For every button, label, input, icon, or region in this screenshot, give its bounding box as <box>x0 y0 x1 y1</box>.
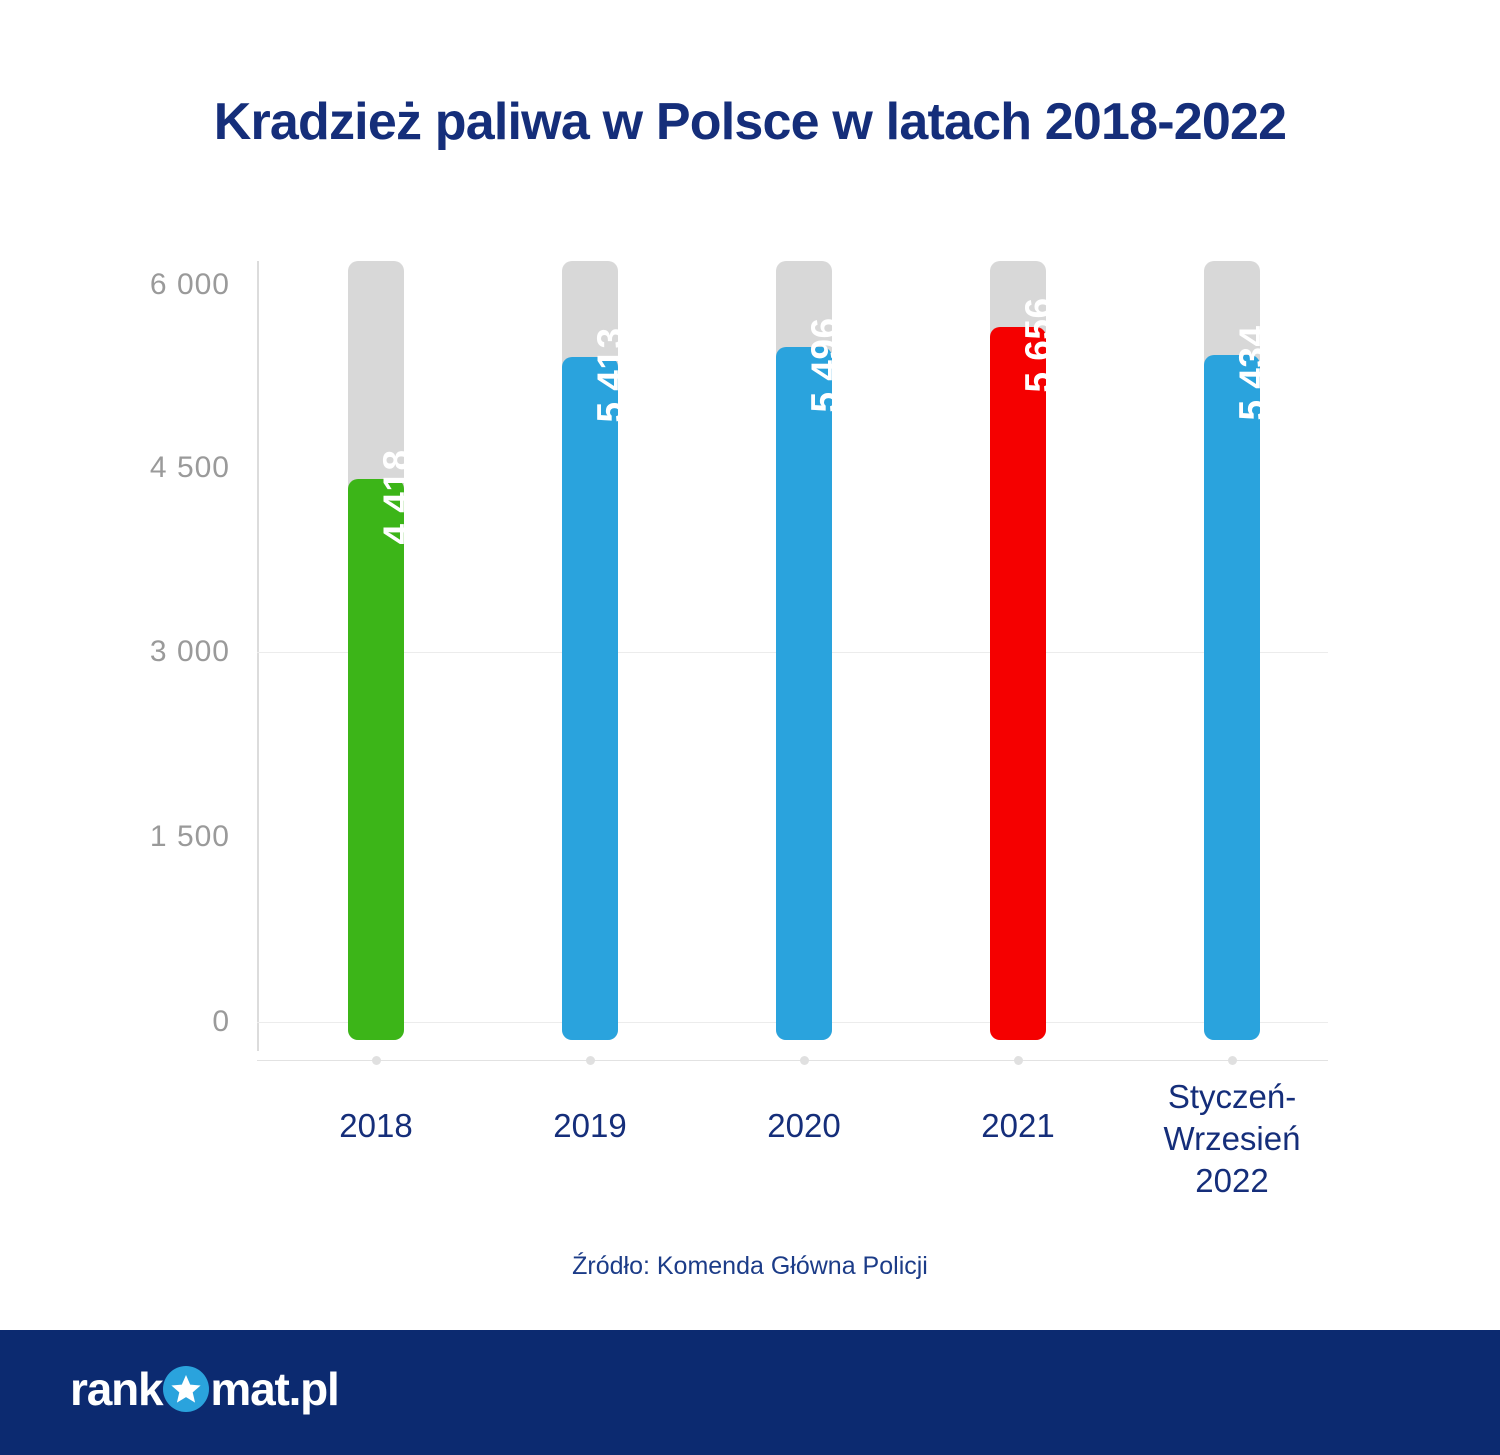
y-tick-label-1500: 1 500 <box>110 820 230 854</box>
x-axis-label-2020: 2020 <box>689 1105 919 1147</box>
bar-2021[interactable]: 5 656 <box>990 327 1046 1040</box>
x-axis-label-2021: 2021 <box>903 1105 1133 1147</box>
y-tick-label-4500: 4 500 <box>110 451 230 485</box>
bar-2022[interactable]: 5 434 <box>1204 355 1260 1040</box>
bar-2020[interactable]: 5 496 <box>776 347 832 1040</box>
x-axis-label-line: 2020 <box>689 1105 919 1147</box>
bar-value-label-2018: 4 418 <box>376 450 418 545</box>
bar-2018[interactable]: 4 418 <box>348 479 404 1040</box>
logo-text-left: rank <box>70 1362 162 1416</box>
bar-value-label-2019: 5 413 <box>590 328 632 423</box>
y-axis-tick-labels: 6 000 4 500 3 000 1 500 0 <box>100 0 230 1330</box>
logo-text-right: mat.pl <box>210 1362 338 1416</box>
x-axis-label-line: Styczeń- <box>1117 1076 1347 1118</box>
chart-plot-area: 6 000 4 500 3 000 1 500 0 4 418 5 413 5 … <box>0 0 1500 1330</box>
x-axis-label-line: 2021 <box>903 1105 1133 1147</box>
y-tick-label-0: 0 <box>110 1005 230 1039</box>
x-axis-label-2018: 2018 <box>261 1105 491 1147</box>
y-tick-label-3000: 3 000 <box>110 635 230 669</box>
x-axis-label-line: 2019 <box>475 1105 705 1147</box>
bar-2019[interactable]: 5 413 <box>562 357 618 1040</box>
bar-value-label-2021: 5 656 <box>1018 298 1060 393</box>
star-icon <box>163 1366 209 1412</box>
x-axis-label-2022: Styczeń- Wrzesień 2022 <box>1117 1076 1347 1203</box>
y-tick-label-6000: 6 000 <box>110 268 230 302</box>
bar-value-label-2020: 5 496 <box>804 317 846 412</box>
y-axis-line <box>257 261 259 1051</box>
x-axis-label-2019: 2019 <box>475 1105 705 1147</box>
rankomat-logo[interactable]: rankmat.pl <box>70 1363 339 1415</box>
x-axis-label-line: 2018 <box>261 1105 491 1147</box>
bar-value-label-2022: 5 434 <box>1232 325 1274 420</box>
source-note: Źródło: Komenda Główna Policji <box>0 1252 1500 1281</box>
x-axis-label-line: Wrzesień <box>1117 1118 1347 1160</box>
x-axis-label-line: 2022 <box>1117 1160 1347 1202</box>
